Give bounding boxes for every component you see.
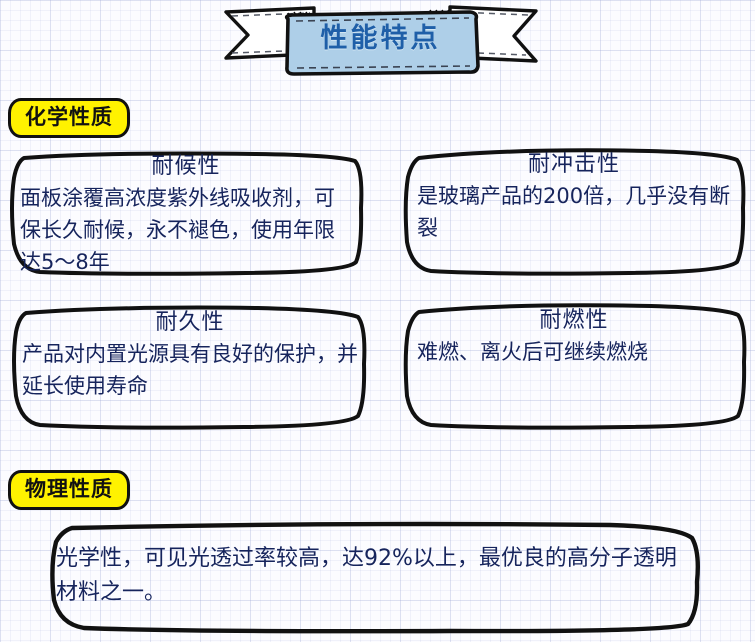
- card-title: 耐燃性: [417, 306, 731, 336]
- section-label-chemical: 化学性质: [8, 98, 130, 138]
- card-title: 耐候性: [20, 152, 352, 182]
- card-title: 耐久性: [22, 308, 358, 338]
- poster-canvas: 性能特点 化学性质 耐候性 面板涂覆高浓度紫外线吸收剂，可保长久耐候，永不褪色，…: [0, 0, 755, 642]
- card-flame-resistance: 耐燃性 难燃、离火后可继续燃烧: [399, 302, 749, 430]
- section-label-physical: 物理性质: [8, 470, 130, 510]
- card-body: 面板涂覆高浓度紫外线吸收剂，可保长久耐候，永不褪色，使用年限达5～8年: [20, 182, 352, 278]
- card-title: 耐冲击性: [417, 150, 731, 180]
- card-body: 光学性，可见光透过率较高，达92%以上，最优良的高分子透明材料之一。: [56, 542, 680, 610]
- card-durability: 耐久性 产品对内置光源具有良好的保护，并延长使用寿命: [8, 304, 374, 431]
- page-title: 性能特点: [218, 22, 543, 56]
- card-optical-property: 光学性，可见光透过率较高，达92%以上，最优良的高分子透明材料之一。: [30, 522, 702, 634]
- banner-ribbon: 性能特点: [218, 2, 543, 78]
- card-body: 产品对内置光源具有良好的保护，并延长使用寿命: [22, 338, 358, 402]
- card-body: 是玻璃产品的200倍，几乎没有断裂: [417, 180, 731, 244]
- card-impact-resistance: 耐冲击性 是玻璃产品的200倍，几乎没有断裂: [399, 146, 749, 277]
- card-weather-resistance: 耐候性 面板涂覆高浓度紫外线吸收剂，可保长久耐候，永不褪色，使用年限达5～8年: [6, 148, 368, 278]
- card-body: 难燃、离火后可继续燃烧: [417, 336, 731, 368]
